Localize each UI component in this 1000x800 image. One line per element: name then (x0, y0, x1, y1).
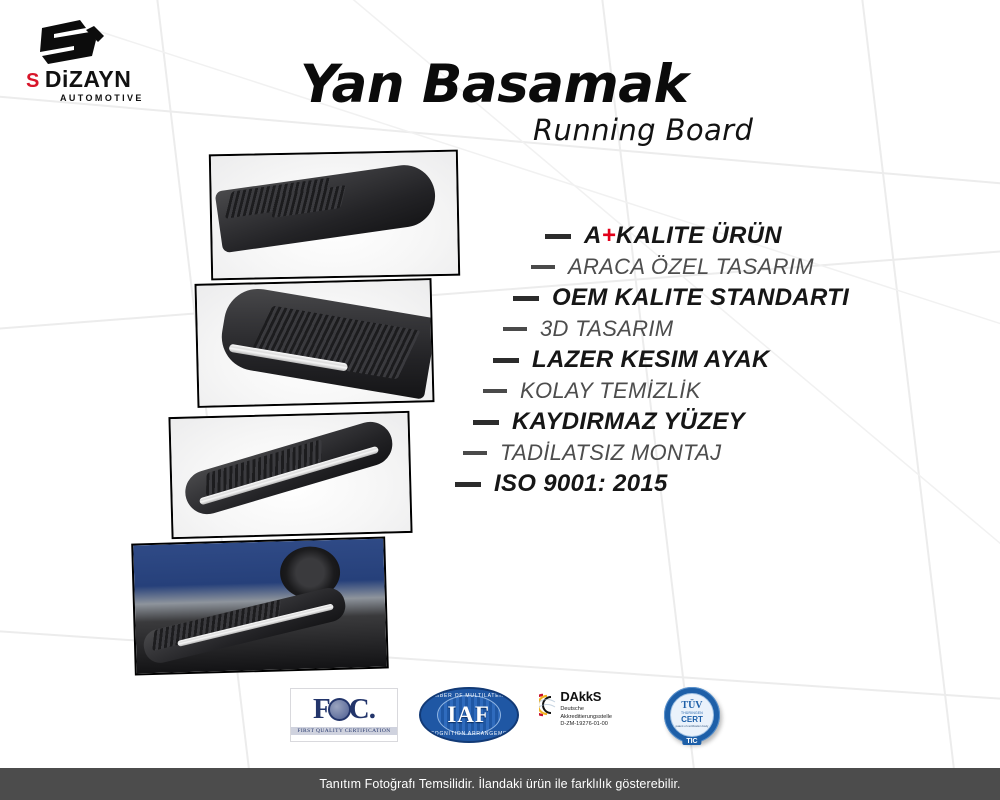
feature-item: LAZER KESIM AYAK (493, 346, 925, 374)
feature-item: ISO 9001: 2015 (455, 470, 925, 498)
footer-bar-right (770, 768, 1000, 800)
feature-label: A+KALITE ÜRÜN (584, 222, 782, 250)
footer-bar: Tanıtım Fotoğrafı Temsilidir. İlandaki ü… (230, 768, 770, 800)
tuv-ring (664, 687, 720, 743)
feature-label: LAZER KESIM AYAK (532, 346, 770, 374)
feature-list: A+KALITE ÜRÜN ARACA ÖZEL TASARIM OEM KAL… (455, 222, 925, 502)
feature-item: 3D TASARIM (503, 316, 925, 342)
iaf-arc-top: MEMBER OF MULTILATERAL (421, 693, 517, 699)
brand-tagline: AUTOMOTIVE (60, 93, 184, 103)
fqc-badge: FC. FIRST QUALITY CERTIFICATION (290, 688, 398, 742)
product-banner: S DiZAYN AUTOMOTIVE Yan Basamak Running … (0, 0, 1000, 800)
feature-label: ISO 9001: 2015 (494, 470, 668, 498)
footer-disclaimer: Tanıtım Fotoğrafı Temsilidir. İlandaki ü… (319, 777, 680, 791)
iaf-badge: MEMBER OF MULTILATERAL IAF RECOGNITION A… (419, 687, 519, 743)
globe-icon (328, 698, 351, 721)
product-photo (168, 411, 412, 539)
dakks-label: DAkkS (560, 690, 612, 703)
dash-icon (545, 234, 571, 239)
feature-label: OEM KALITE STANDARTI (552, 284, 849, 312)
feature-label: ARACA ÖZEL TASARIM (568, 254, 814, 280)
fqc-logo-icon: FC. (313, 695, 375, 724)
dakks-badge: DAkkS Deutsche Akkreditierungsstelle D-Z… (539, 690, 643, 740)
page-title: Yan Basamak (300, 54, 688, 115)
feature-item: A+KALITE ÜRÜN (545, 222, 925, 250)
dakks-line-3: D-ZM-19276-01-00 (560, 721, 612, 729)
dash-icon (463, 451, 487, 455)
product-photo (195, 278, 435, 408)
page-subtitle: Running Board (533, 113, 753, 147)
dakks-line-1: Deutsche (560, 706, 612, 714)
tuv-badge: TÜV THÜRINGEN CERT patent of certificati… (664, 687, 720, 743)
s-monogram-icon (34, 16, 112, 66)
feature-label: 3D TASARIM (540, 316, 673, 342)
dash-icon (531, 265, 555, 269)
footer-bar-left (0, 768, 230, 800)
iaf-label: IAF (447, 702, 490, 728)
feature-item: TADİLATSIZ MONTAJ (463, 440, 925, 466)
dash-icon (503, 327, 527, 331)
product-photo (209, 150, 460, 281)
dash-icon (455, 482, 481, 487)
dakks-line-2: Akkreditierungsstelle (560, 714, 612, 722)
brand-initial: S (26, 71, 39, 91)
iaf-arc-bottom: RECOGNITION ARRANGEMENT (421, 731, 517, 737)
feature-label: KAYDIRMAZ YÜZEY (512, 408, 745, 436)
dash-icon (473, 420, 499, 425)
fqc-subtitle: FIRST QUALITY CERTIFICATION (291, 727, 397, 735)
dash-icon (493, 358, 519, 363)
dash-icon (513, 296, 539, 301)
dakks-waves-icon (539, 693, 557, 717)
dash-icon (483, 389, 507, 393)
feature-item: OEM KALITE STANDARTI (513, 284, 925, 312)
feature-item: ARACA ÖZEL TASARIM (531, 254, 925, 280)
feature-label: TADİLATSIZ MONTAJ (500, 440, 721, 466)
feature-item: KOLAY TEMİZLİK (483, 378, 925, 404)
brand-logo: S DiZAYN AUTOMOTIVE (24, 16, 184, 103)
tuv-footer-label: TIC (682, 738, 701, 745)
brand-name: DiZAYN (45, 68, 132, 91)
certification-badges: FC. FIRST QUALITY CERTIFICATION MEMBER O… (290, 684, 720, 746)
feature-label: KOLAY TEMİZLİK (520, 378, 701, 404)
feature-item: KAYDIRMAZ YÜZEY (473, 408, 925, 436)
product-photo (131, 536, 389, 675)
